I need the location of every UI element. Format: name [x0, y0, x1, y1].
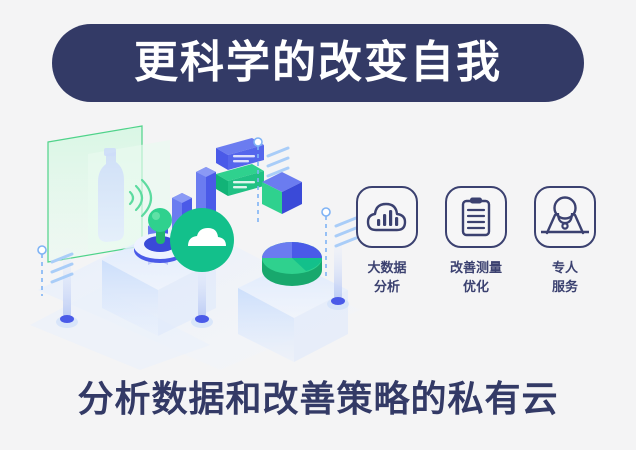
feature-label-big-data: 大数据 分析: [367, 260, 406, 298]
feature-list: 大数据 分析 改善测量 优化: [352, 186, 600, 298]
feature-label-service: 专人 服务: [552, 260, 578, 298]
person-service-icon: [534, 186, 596, 248]
feature-item-big-data[interactable]: 大数据 分析: [352, 186, 422, 298]
feature-label-measurement: 改善测量 优化: [450, 260, 502, 298]
info-card-green: [216, 164, 264, 196]
dashed-connector-lines: [322, 208, 330, 280]
feature-item-service[interactable]: 专人 服务: [530, 186, 600, 298]
promo-page: 更科学的改变自我: [0, 0, 636, 450]
cloud-bar-chart-icon: [356, 186, 418, 248]
header-banner: 更科学的改变自我: [52, 24, 584, 102]
footer-tagline: 分析数据和改善策略的私有云: [0, 382, 636, 418]
clipboard-icon: [445, 186, 507, 248]
page-title: 更科学的改变自我: [134, 41, 502, 85]
feature-item-measurement[interactable]: 改善测量 优化: [441, 186, 511, 298]
illustration: [30, 120, 370, 370]
cube-3d: [262, 172, 302, 214]
pie-chart-3d: [262, 242, 322, 286]
dash-accent-group: [268, 148, 288, 176]
